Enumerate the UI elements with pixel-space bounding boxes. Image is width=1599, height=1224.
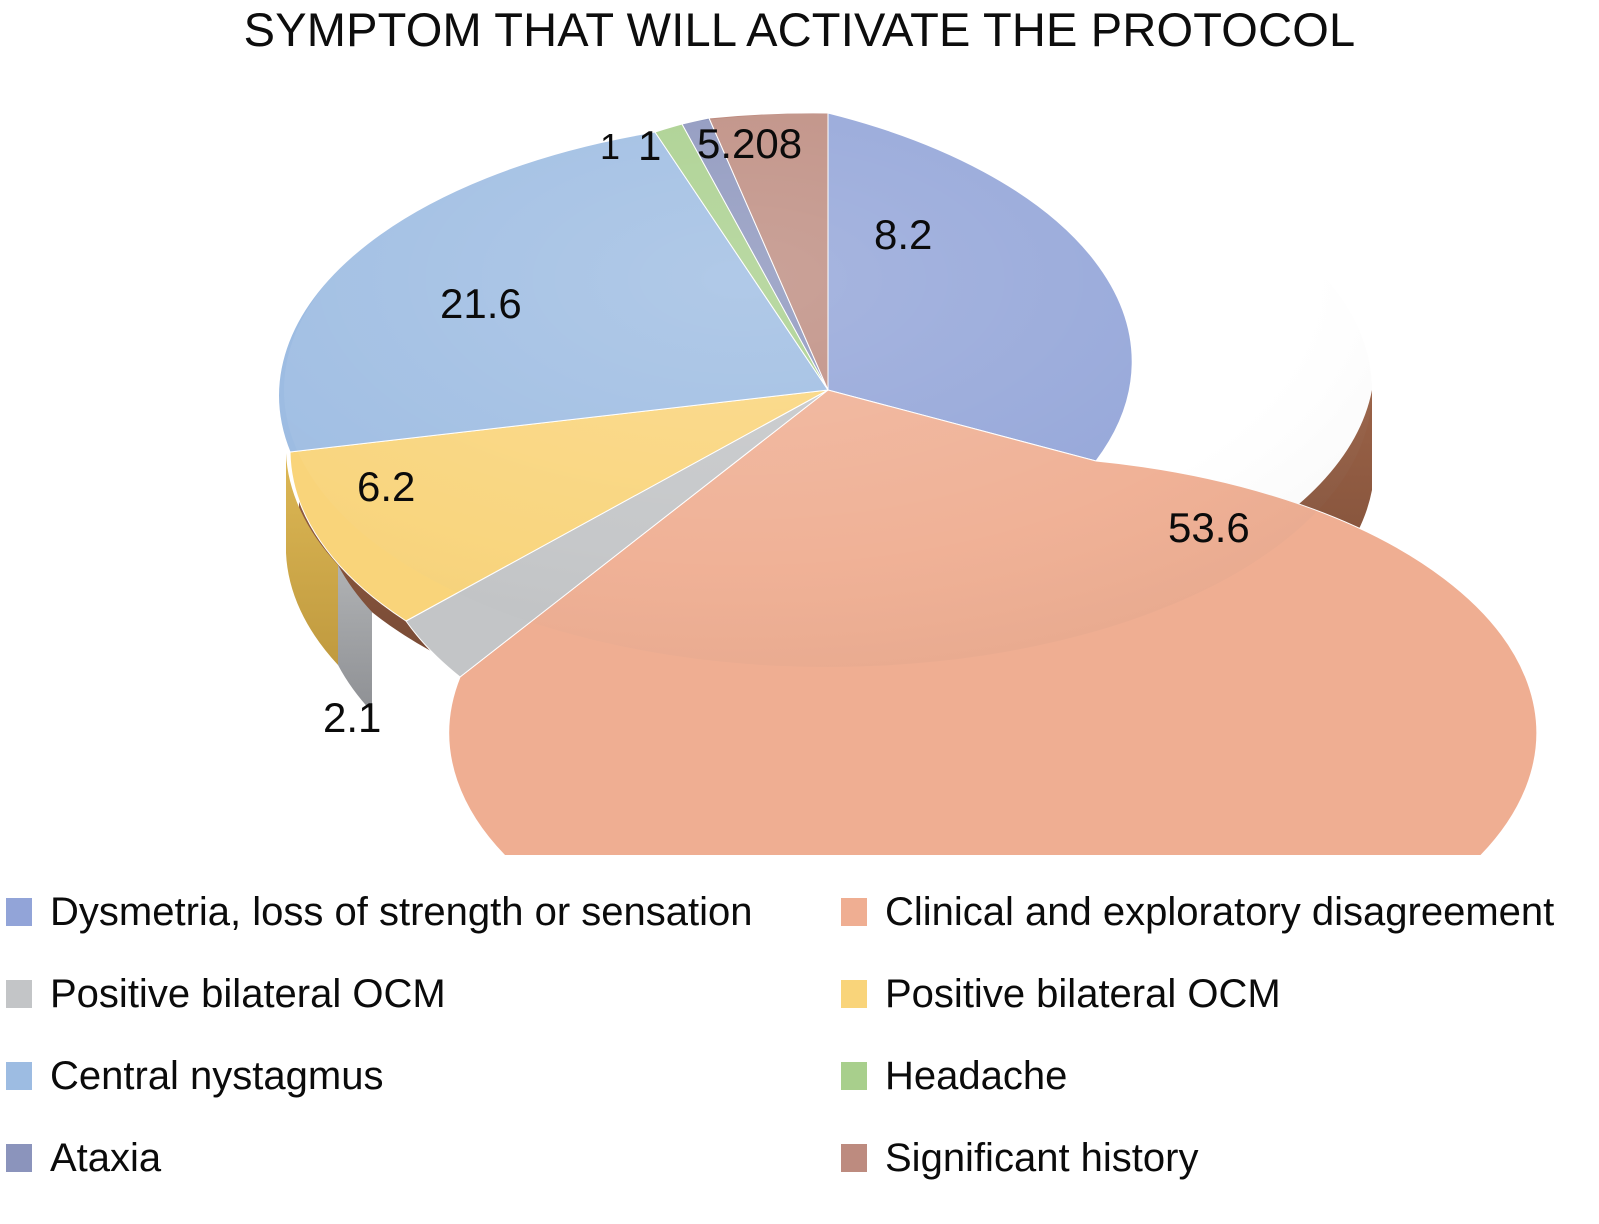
legend-item-significant-history[interactable]: Significant history xyxy=(841,1136,1198,1180)
legend-item-dysmetria[interactable]: Dysmetria, loss of strength or sensation xyxy=(6,890,753,934)
legend-item-label: Headache xyxy=(885,1056,1067,1096)
data-label-positive-ocm-gray: 2.1 xyxy=(323,697,381,739)
legend-item-ataxia[interactable]: Ataxia xyxy=(6,1136,161,1180)
legend-swatch-icon xyxy=(6,1062,32,1090)
data-label-positive-ocm-yellow: 6.2 xyxy=(357,466,415,508)
data-label-clinical-disagreement: 53.6 xyxy=(1168,507,1250,549)
legend-swatch-icon xyxy=(841,898,867,926)
pie-chart-figure: SYMPTOM THAT WILL ACTIVATE THE PROTOCOL xyxy=(0,0,1599,1224)
legend-item-label: Central nystagmus xyxy=(50,1056,383,1096)
legend-item-label: Positive bilateral OCM xyxy=(50,974,446,1014)
legend-item-label: Dysmetria, loss of strength or sensation xyxy=(50,892,753,932)
page-title: SYMPTOM THAT WILL ACTIVATE THE PROTOCOL xyxy=(0,2,1599,57)
legend-item-label: Significant history xyxy=(885,1138,1198,1178)
data-label-dysmetria: 8.2 xyxy=(874,214,932,256)
legend-item-clinical-disagreement[interactable]: Clinical and exploratory disagreement xyxy=(841,890,1554,934)
legend-item-positive-ocm-yellow[interactable]: Positive bilateral OCM xyxy=(841,972,1281,1016)
legend-swatch-icon xyxy=(841,1144,867,1172)
legend-swatch-icon xyxy=(6,1144,32,1172)
chart-legend: Dysmetria, loss of strength or sensation… xyxy=(0,880,1599,1210)
legend-swatch-icon xyxy=(6,980,32,1008)
pie-plot-area: 1 1 5.208 8.2 21.6 6.2 2.1 53.6 xyxy=(0,95,1599,855)
legend-item-positive-ocm-gray[interactable]: Positive bilateral OCM xyxy=(6,972,446,1016)
legend-item-label: Ataxia xyxy=(50,1138,161,1178)
legend-swatch-icon xyxy=(841,980,867,1008)
legend-item-central-nystagmus[interactable]: Central nystagmus xyxy=(6,1054,383,1098)
data-label-central-nystagmus: 21.6 xyxy=(440,283,522,325)
data-label-significant-history: 5.208 xyxy=(697,123,802,165)
data-label-ataxia: 1 xyxy=(600,129,620,165)
data-label-headache: 1 xyxy=(638,125,661,167)
legend-item-label: Positive bilateral OCM xyxy=(885,974,1281,1014)
legend-swatch-icon xyxy=(841,1062,867,1090)
legend-swatch-icon xyxy=(6,898,32,926)
pie-svg xyxy=(0,95,1599,855)
legend-item-headache[interactable]: Headache xyxy=(841,1054,1067,1098)
legend-item-label: Clinical and exploratory disagreement xyxy=(885,892,1554,932)
